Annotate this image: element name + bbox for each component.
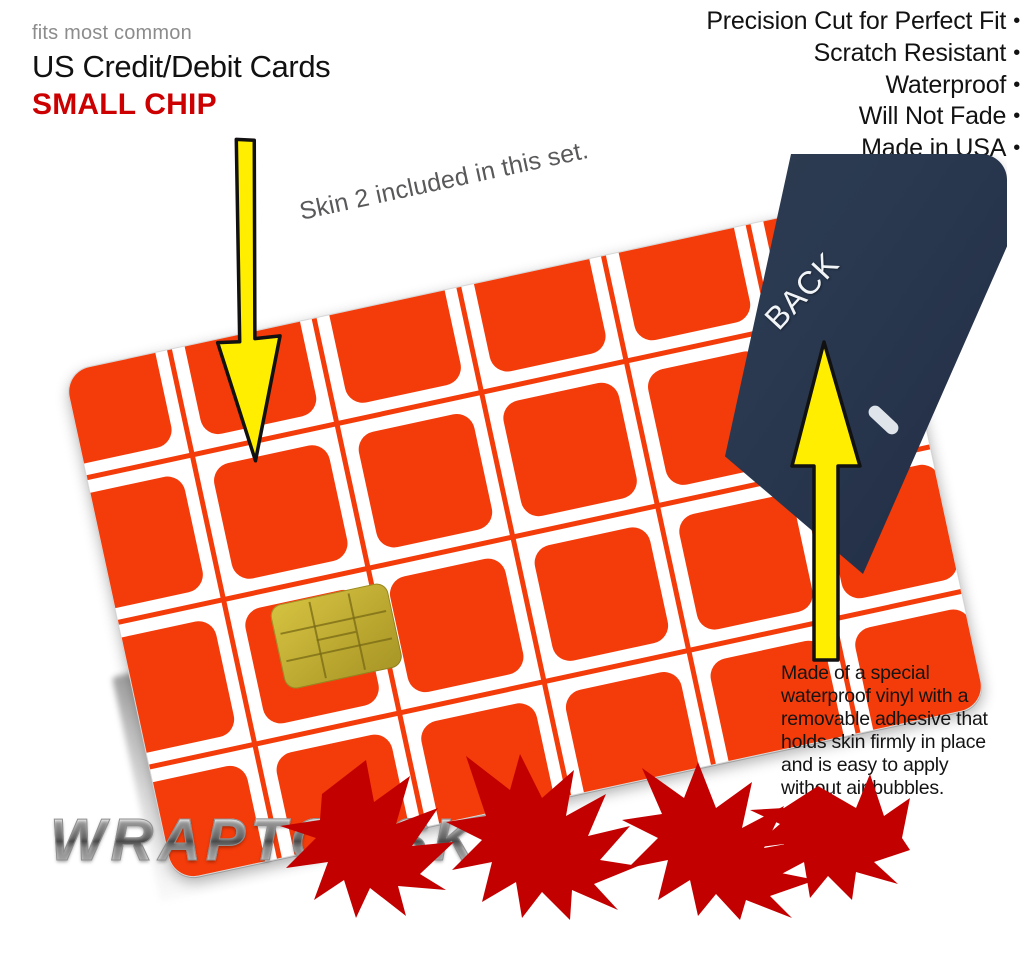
fitment-eyebrow: fits most common — [32, 22, 492, 44]
blurb-line: removable adhesive that — [781, 708, 996, 731]
feature-item-scratch-resistant: Scratch Resistant• — [706, 38, 1020, 70]
pattern-tile — [387, 555, 527, 695]
feature-list: Precision Cut for Perfect Fit• Scratch R… — [706, 6, 1020, 165]
brand-logo: WRAPTORSKINZ — [40, 768, 1000, 918]
blurb-line: Made of a special — [781, 662, 996, 685]
bullet-icon: • — [1013, 9, 1020, 34]
bullet-icon: • — [1013, 73, 1020, 98]
pattern-tile — [613, 203, 753, 343]
back-side-label: BACK — [757, 245, 846, 337]
feature-item-waterproof: Waterproof• — [706, 70, 1020, 102]
pattern-tile — [66, 473, 206, 613]
product-image-canvas: fits most common US Credit/Debit Cards S… — [0, 0, 1034, 960]
pattern-tile — [469, 235, 609, 375]
feature-label: Precision Cut for Perfect Fit — [706, 7, 1006, 35]
bullet-icon: • — [1013, 41, 1020, 66]
feature-item-will-not-fade: Will Not Fade• — [706, 101, 1020, 133]
pattern-tile — [324, 266, 464, 406]
chip-size-label: SMALL CHIP — [32, 88, 492, 123]
feature-item-precision-cut: Precision Cut for Perfect Fit• — [706, 6, 1020, 38]
pattern-tile — [63, 328, 175, 468]
brand-slash-graphic — [270, 750, 910, 920]
feature-label: Scratch Resistant — [814, 39, 1007, 67]
pattern-tile — [355, 411, 495, 551]
feature-label: Will Not Fade — [859, 102, 1006, 130]
chip-callout-arrow — [200, 138, 330, 463]
page-title: US Credit/Debit Cards — [32, 49, 492, 85]
bullet-icon: • — [1013, 104, 1020, 129]
bullet-icon: • — [1013, 136, 1020, 161]
pattern-tile — [965, 430, 987, 570]
fitment-heading-block: fits most common US Credit/Debit Cards S… — [32, 22, 492, 122]
pattern-tile — [531, 524, 671, 664]
blurb-line: waterproof vinyl with a — [781, 685, 996, 708]
feature-label: Waterproof — [885, 71, 1006, 99]
pattern-tile — [500, 379, 640, 519]
vinyl-callout-arrow — [786, 338, 876, 668]
